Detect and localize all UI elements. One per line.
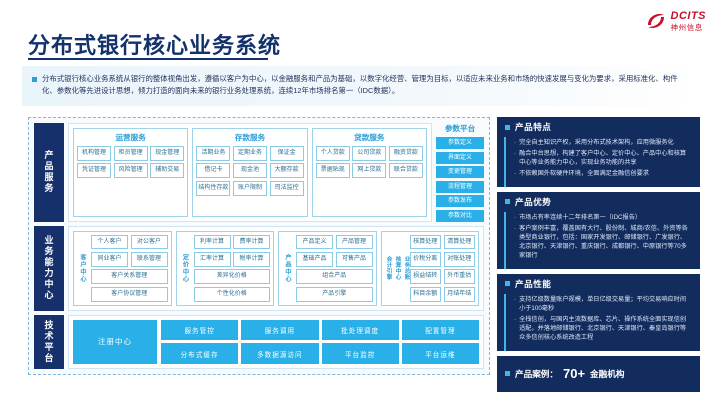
parameter-item[interactable]: 变更管理 xyxy=(436,166,484,178)
service-cell[interactable]: 凭证管理 xyxy=(77,163,111,178)
service-cell[interactable]: 个人贷款 xyxy=(316,146,350,161)
capability-cell[interactable]: 外币重估 xyxy=(444,269,476,284)
band-tech-platform: 技术平台 注册中心 服务管控 服务调用 批处理调度 配置管理 分布式缓存 多数据… xyxy=(34,315,484,369)
service-cell[interactable]: 现金池 xyxy=(233,163,267,178)
service-group-loans: 贷款服务 个人贷款 公司贷款 融资贷款 票据贴现 网上贷款 联合贷款 xyxy=(312,128,427,217)
bullet-text: 不依赖国外软硬件环境，全面满足金融信创要求 xyxy=(519,170,649,179)
service-cell[interactable]: 票据贴现 xyxy=(316,163,350,178)
service-cell[interactable]: 公司贷款 xyxy=(352,146,386,161)
tech-cell[interactable]: 服务管控 xyxy=(161,320,238,341)
service-group-deposits: 存款服务 活期业务 定期业务 保证金 借记卡 现金池 大额存款 结构性存款 账户… xyxy=(192,128,307,217)
service-cell-grid: 活期业务 定期业务 保证金 借记卡 现金池 大额存款 结构性存款 账户限制 司法… xyxy=(196,146,303,196)
capability-cell[interactable]: 科目余额 xyxy=(410,287,442,302)
service-cell[interactable]: 账户限制 xyxy=(233,181,267,196)
service-group-title: 存款服务 xyxy=(196,132,303,143)
capability-cell[interactable]: 个性化价格 xyxy=(194,287,271,302)
dot-bullet-icon: · xyxy=(514,170,516,179)
bullet-item: ·市场占有率连续十二年排名第一（IDC报告） xyxy=(514,214,692,223)
card-title: 产品特点 xyxy=(515,121,551,133)
bullet-item: ·全栈信创，与国内主流数据库、芯片、操作系统全面实现信创适配，并落地邮储银行、北… xyxy=(514,316,692,343)
square-bullet-icon xyxy=(505,281,510,286)
capability-center-label: 定价中心 xyxy=(180,235,191,302)
card-body: ·支持亿级数量账户规模，单日亿级交易量；平均交易响应时间小于100毫秒 ·全栈信… xyxy=(504,294,700,351)
capability-cell[interactable]: 对账处理 xyxy=(444,252,476,267)
tech-register-center[interactable]: 注册中心 xyxy=(73,320,157,364)
parameter-item[interactable]: 参数发布 xyxy=(436,195,484,207)
lead-paragraph-box: 分布式银行核心业务系统从银行的整体视角出发，遵循以客户为中心，以金融服务和产品为… xyxy=(22,66,698,106)
brand-logo: DCITS 神州信息 xyxy=(645,10,707,32)
service-cell[interactable]: 借记卡 xyxy=(196,163,230,178)
page-title: 分布式银行核心业务系统 xyxy=(28,28,281,60)
tech-cell[interactable]: 服务调用 xyxy=(241,320,318,341)
card-header: 产品优势 xyxy=(497,192,700,212)
capability-cell[interactable]: 清算处理 xyxy=(444,235,476,250)
card-product-cases: 产品案例： 70+ 金融机构 xyxy=(497,356,700,392)
band-body-product-services: 运营服务 机构管理 柜员管理 现金管理 凭证管理 风险管理 辅助交易 存款服务 xyxy=(68,123,432,222)
capability-cell[interactable]: 同业客户 xyxy=(91,252,128,267)
capability-cell[interactable]: 对公客户 xyxy=(131,235,168,250)
card-product-advantages: 产品优势 ·市场占有率连续十二年排名第一（IDC报告） ·客户案例丰富，覆盖国有… xyxy=(497,192,700,269)
band-label-product-services: 产品服务 xyxy=(34,123,64,222)
capability-cell[interactable]: 基础产品 xyxy=(296,252,333,267)
service-group-title: 贷款服务 xyxy=(316,132,423,143)
tech-cell-grid: 服务管控 服务调用 批处理调度 配置管理 分布式缓存 多数据源访问 平台监控 平… xyxy=(161,320,479,364)
capability-cell[interactable]: 税率计算 xyxy=(233,252,270,267)
parameter-item[interactable]: 界面定义 xyxy=(436,152,484,164)
service-group-title: 运营服务 xyxy=(77,132,184,143)
service-cell[interactable]: 柜员管理 xyxy=(114,146,148,161)
square-bullet-icon xyxy=(505,199,510,204)
service-cell[interactable]: 保证金 xyxy=(270,146,304,161)
case-number: 70+ xyxy=(563,366,585,381)
bullet-item: ·不依赖国外软硬件环境，全面满足金融信创要求 xyxy=(514,170,692,179)
bullet-text: 完全自主知识产权，采用分布式技术架构，应用微服务化 xyxy=(519,139,674,148)
dot-bullet-icon: · xyxy=(514,150,516,168)
card-header: 产品性能 xyxy=(497,274,700,294)
bullet-item: ·完全自主知识产权，采用分布式技术架构，应用微服务化 xyxy=(514,139,692,148)
tech-cell[interactable]: 平台运维 xyxy=(402,343,479,364)
tech-cell[interactable]: 分布式缓存 xyxy=(161,343,238,364)
card-body: ·完全自主知识产权，采用分布式技术架构，应用微服务化 ·融合中台思想，构建了客户… xyxy=(504,137,700,187)
capability-center-accounting: 会计引擎 核算中心 业务总账 核算处理 清算处理 价税分离 对账处理 xyxy=(381,231,480,306)
card-title: 产品性能 xyxy=(515,278,551,290)
bullet-text: 客户案例丰富，覆盖国有大行、股份制、城商/农信、外资等各类型商业银行，包括：国家… xyxy=(519,225,692,261)
tech-cell[interactable]: 配置管理 xyxy=(402,320,479,341)
service-cell[interactable]: 辅助交易 xyxy=(150,163,184,178)
title-underline xyxy=(28,58,268,60)
tech-cell[interactable]: 多数据源访问 xyxy=(241,343,318,364)
info-panel: 产品特点 ·完全自主知识产权，采用分布式技术架构，应用微服务化 ·融合中台思想，… xyxy=(497,117,700,375)
capability-cell[interactable]: 损益结转 xyxy=(410,269,442,284)
bullet-text: 全栈信创，与国内主流数据库、芯片、操作系统全面实现信创适配，并落地邮储银行、北京… xyxy=(519,316,692,343)
capability-cell[interactable]: 个人客户 xyxy=(91,235,128,250)
dcits-swirl-icon xyxy=(645,10,667,32)
brand-name-en: DCITS xyxy=(671,11,707,22)
dot-bullet-icon: · xyxy=(514,296,516,314)
band-label-capability-centers: 业务能力中心 xyxy=(34,226,64,311)
capability-sub-label-accounting-engine: 会计引擎 xyxy=(385,235,393,302)
band-label-tech-platform: 技术平台 xyxy=(34,315,64,369)
band-body-tech-platform: 注册中心 服务管控 服务调用 批处理调度 配置管理 分布式缓存 多数据源访问 平… xyxy=(68,315,484,369)
parameter-item[interactable]: 参数对比 xyxy=(436,210,484,222)
capability-cell[interactable]: 汇率计算 xyxy=(194,252,231,267)
service-cell[interactable]: 定期业务 xyxy=(233,146,267,161)
parameter-item[interactable]: 流程管理 xyxy=(436,181,484,193)
capability-cell[interactable]: 联系管理 xyxy=(131,252,168,267)
service-group-operations: 运营服务 机构管理 柜员管理 现金管理 凭证管理 风险管理 辅助交易 xyxy=(73,128,188,217)
service-cell[interactable]: 活期业务 xyxy=(196,146,230,161)
band-capability-centers: 业务能力中心 客户中心 个人客户 对公客户 同业客户 联系管理 xyxy=(34,226,484,311)
service-cell[interactable]: 现金管理 xyxy=(150,146,184,161)
capability-cell[interactable]: 核算处理 xyxy=(410,235,442,250)
capability-center-product: 产品中心 产品定义 产品管理 基础产品 可售产品 组合产品 产品引擎 xyxy=(278,231,377,306)
bullet-item: ·融合中台思想，构建了客户中心、定价中心、产品中心和核算中心等业务能力中心，实现… xyxy=(514,150,692,168)
capability-center-customer: 客户中心 个人客户 对公客户 同业客户 联系管理 客户关系管理 客户协 xyxy=(73,231,172,306)
tech-cell[interactable]: 批处理调度 xyxy=(322,320,399,341)
dot-bullet-icon: · xyxy=(514,214,516,223)
capability-cell[interactable]: 利率计算 xyxy=(194,235,231,250)
capability-cell[interactable]: 产品定义 xyxy=(296,235,333,250)
service-cell[interactable]: 融资贷款 xyxy=(389,146,423,161)
capability-cell[interactable]: 组合产品 xyxy=(296,269,373,284)
case-suffix: 金融机构 xyxy=(590,368,624,380)
capability-cell[interactable]: 价税分离 xyxy=(410,252,442,267)
square-bullet-icon xyxy=(505,371,510,376)
bullet-item: ·客户案例丰富，覆盖国有大行、股份制、城商/农信、外资等各类型商业银行，包括：国… xyxy=(514,225,692,261)
service-cell-grid: 个人贷款 公司贷款 融资贷款 票据贴现 网上贷款 联合贷款 xyxy=(316,146,423,178)
brand-name-cn: 神州信息 xyxy=(671,24,707,32)
bullet-text: 融合中台思想，构建了客户中心、定价中心、产品中心和核算中心等业务能力中心，实现业… xyxy=(519,150,692,168)
square-bullet-icon xyxy=(505,125,510,130)
bullet-text: 市场占有率连续十二年排名第一（IDC报告） xyxy=(519,214,641,223)
capability-center-sub-labels: 会计引擎 核算中心 业务总账 xyxy=(385,235,407,302)
tech-cell[interactable]: 平台监控 xyxy=(322,343,399,364)
capability-center-label: 产品中心 xyxy=(282,235,293,302)
card-product-features: 产品特点 ·完全自主知识产权，采用分布式技术架构，应用微服务化 ·融合中台思想，… xyxy=(497,117,700,187)
capability-cell[interactable]: 月结年结 xyxy=(444,287,476,302)
parameter-platform-title: 参数平台 xyxy=(436,123,484,134)
service-cell[interactable]: 联合贷款 xyxy=(389,163,423,178)
service-cell[interactable]: 司法监控 xyxy=(270,181,304,196)
capability-cell[interactable]: 差异化价格 xyxy=(194,269,271,284)
lead-paragraph-text: 分布式银行核心业务系统从银行的整体视角出发，遵循以客户为中心，以金融服务和产品为… xyxy=(42,73,688,97)
parameter-platform-column: 参数平台 参数定义 界面定义 变更管理 流程管理 参数发布 参数对比 xyxy=(436,123,484,222)
service-cell[interactable]: 机构管理 xyxy=(77,146,111,161)
capability-cell[interactable]: 产品引擎 xyxy=(296,287,373,302)
band-product-services: 产品服务 运营服务 机构管理 柜员管理 现金管理 凭证管理 风险管理 辅助交易 xyxy=(34,123,484,222)
service-cell-grid: 机构管理 柜员管理 现金管理 凭证管理 风险管理 辅助交易 xyxy=(77,146,184,178)
dot-bullet-icon: · xyxy=(514,316,516,343)
service-cell[interactable]: 大额存款 xyxy=(270,163,304,178)
square-bullet-icon xyxy=(32,77,37,82)
capability-cell[interactable]: 产品管理 xyxy=(336,235,373,250)
architecture-diagram: 产品服务 运营服务 机构管理 柜员管理 现金管理 凭证管理 风险管理 辅助交易 xyxy=(28,117,490,375)
service-cell[interactable]: 结构性存款 xyxy=(196,181,230,196)
capability-center-label: 客户中心 xyxy=(77,235,88,302)
service-cell[interactable]: 风险管理 xyxy=(114,163,148,178)
capability-center-pricing: 定价中心 利率计算 费率计算 汇率计算 税率计算 差异化价格 个性化价 xyxy=(176,231,275,306)
brand-wordmark: DCITS 神州信息 xyxy=(671,11,707,32)
dot-bullet-icon: · xyxy=(514,139,516,148)
capability-cell[interactable]: 客户协议管理 xyxy=(91,287,168,302)
service-cell[interactable]: 网上贷款 xyxy=(352,163,386,178)
parameter-item[interactable]: 参数定义 xyxy=(436,137,484,149)
slide-root: DCITS 神州信息 分布式银行核心业务系统 分布式银行核心业务系统从银行的整体… xyxy=(0,0,720,405)
capability-cell[interactable]: 可售产品 xyxy=(336,252,373,267)
dot-bullet-icon: · xyxy=(514,225,516,261)
capability-center-label: 核算中心 xyxy=(394,235,402,302)
capability-cell[interactable]: 费率计算 xyxy=(233,235,270,250)
card-title: 产品优势 xyxy=(515,196,551,208)
card-product-performance: 产品性能 ·支持亿级数量账户规模，单日亿级交易量；平均交易响应时间小于100毫秒… xyxy=(497,274,700,351)
case-label: 产品案例： xyxy=(515,368,558,380)
parameter-platform-list: 参数定义 界面定义 变更管理 流程管理 参数发布 参数对比 xyxy=(436,137,484,222)
capability-cell[interactable]: 客户关系管理 xyxy=(91,269,168,284)
band-body-capability-centers: 客户中心 个人客户 对公客户 同业客户 联系管理 客户关系管理 客户协 xyxy=(68,226,484,311)
card-body: ·市场占有率连续十二年排名第一（IDC报告） ·客户案例丰富，覆盖国有大行、股份… xyxy=(504,212,700,269)
card-header: 产品特点 xyxy=(497,117,700,137)
bullet-item: ·支持亿级数量账户规模，单日亿级交易量；平均交易响应时间小于100毫秒 xyxy=(514,296,692,314)
bullet-text: 支持亿级数量账户规模，单日亿级交易量；平均交易响应时间小于100毫秒 xyxy=(519,296,692,314)
